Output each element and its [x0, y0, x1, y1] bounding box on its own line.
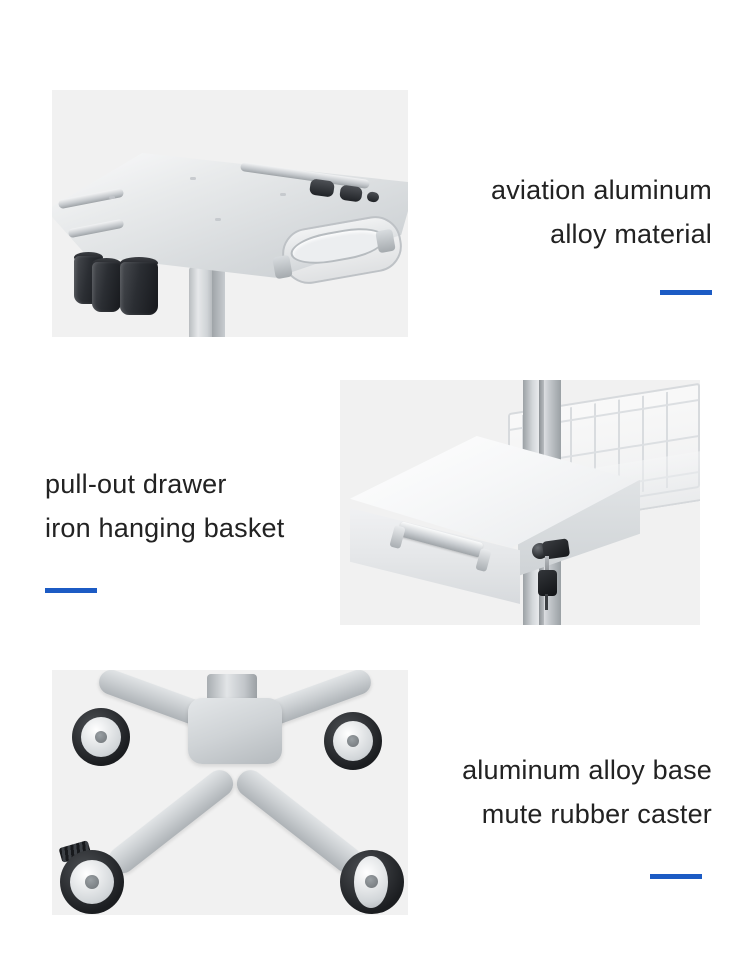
caster-cap	[365, 875, 378, 888]
feature-line: mute rubber caster	[410, 792, 712, 836]
aluminum-tray-illustration	[52, 90, 408, 337]
feature-image-pull-out-drawer	[340, 380, 700, 625]
probe-holder-3	[120, 262, 158, 315]
feature-image-aluminum-alloy-base	[52, 670, 408, 915]
handle-tab-left	[272, 255, 293, 280]
connector-knob-2	[339, 185, 363, 203]
accent-bar	[660, 290, 712, 295]
connector-knob-1	[309, 178, 335, 197]
feature-text-pull-out-drawer: pull-out drawer iron hanging basket	[45, 462, 345, 550]
caster-bottom-right	[340, 842, 404, 906]
feature-line: alloy material	[420, 212, 712, 256]
feature-line: pull-out drawer	[45, 462, 345, 506]
probe-holder-2	[92, 262, 121, 312]
accent-bar	[650, 874, 702, 879]
feature-line: aluminum alloy base	[410, 748, 712, 792]
feature-image-aviation-aluminum	[52, 90, 408, 337]
caster-cap	[85, 875, 99, 889]
feature-line: aviation aluminum	[420, 168, 712, 212]
accent-bar	[45, 588, 97, 593]
key-grip	[538, 570, 557, 596]
key-tip	[545, 594, 548, 610]
caster-cap	[95, 731, 107, 743]
caster-top-left	[72, 708, 130, 766]
feature-line: iron hanging basket	[45, 506, 345, 550]
cart-post-shadow	[212, 270, 225, 337]
caster-bottom-left	[60, 842, 124, 906]
screw-mark	[190, 177, 196, 180]
screw-mark	[215, 218, 221, 221]
caster-top-right	[324, 712, 382, 770]
product-feature-page: aviation aluminum alloy material	[0, 0, 750, 970]
feature-text-aluminum-alloy-base: aluminum alloy base mute rubber caster	[410, 748, 712, 836]
handle-tab-right	[375, 229, 396, 254]
screw-mark	[109, 196, 115, 199]
caster-cap	[347, 735, 359, 747]
feature-text-aviation-aluminum: aviation aluminum alloy material	[420, 168, 712, 256]
screw-mark	[280, 193, 286, 196]
base-hub	[188, 698, 282, 764]
